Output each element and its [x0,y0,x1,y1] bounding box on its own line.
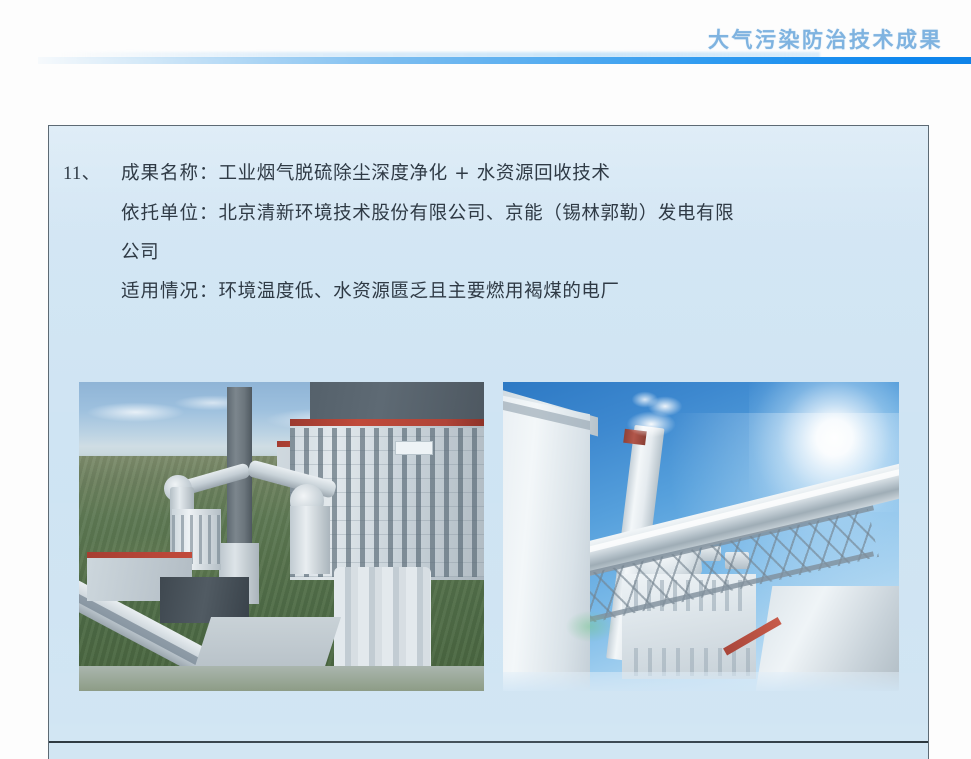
photo-powerhouse-red-roof [290,419,484,426]
photo-white-plume [626,385,689,441]
stack-plume-photo [503,382,899,691]
field-label-name: 成果名称： [121,163,219,184]
field-value-name: 工业烟气脱硫除尘深度净化 + 水资源回收技术 [219,163,611,184]
page-header: 大气污染防治技术成果 [0,0,971,70]
page-header-title: 大气污染防治技术成果 [708,24,943,54]
text-line-application: 适用情况：环境温度低、水资源匮乏且主要燃用褐煤的电厂 [63,272,913,311]
photo-bottom-haze [503,672,899,691]
item-number: 11、 [63,155,121,194]
field-value-application: 环境温度低、水资源匮乏且主要燃用褐煤的电厂 [219,281,620,302]
photo-absorber-tower-3 [290,506,331,574]
power-plant-aerial-photo [79,382,484,691]
photo-building-signboard [395,441,433,455]
field-value-organization-continued: 公司 [121,242,159,263]
panel-section-divider [49,741,928,743]
achievement-text-block: 11、成果名称：工业烟气脱硫除尘深度净化 + 水资源回收技术 依托单位：北京清新… [63,154,913,311]
photo-foreground-strip [79,666,484,691]
content-panel: 11、成果名称：工业烟气脱硫除尘深度净化 + 水资源回收技术 依托单位：北京清新… [48,125,929,759]
photo-lens-flare-green [566,611,614,642]
field-label-organization: 依托单位： [121,203,219,224]
field-value-organization: 北京清新环境技术股份有限公司、京能（锡林郭勒）发电有限 [219,203,735,224]
photo-left-wall [503,394,590,691]
photo-silo-cluster [334,567,431,669]
text-line-organization-continued: 公司 [63,233,913,272]
photo-lower-building-windows [634,648,753,676]
field-label-application: 适用情况： [121,281,219,302]
text-line-organization: 依托单位：北京清新环境技术股份有限公司、京能（锡林郭勒）发电有限 [63,194,913,233]
photo-low-building-red-roof [87,552,192,558]
text-line-name: 11、成果名称：工业烟气脱硫除尘深度净化 + 水资源回收技术 [63,154,913,194]
header-accent-rule [38,57,971,64]
